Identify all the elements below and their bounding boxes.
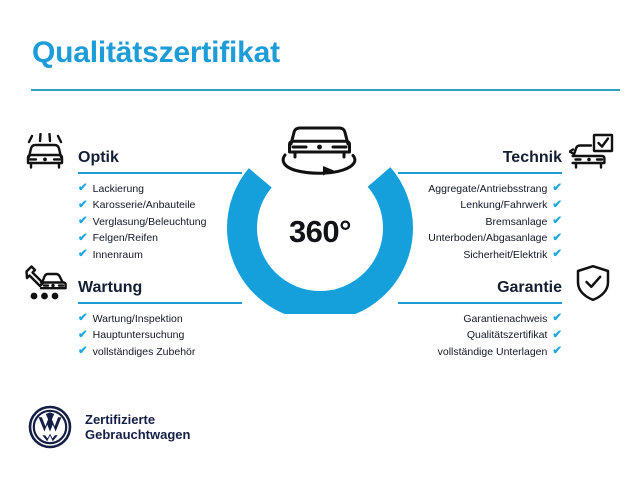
section-garantie: Garantie Garantienachweis✔ Qualitätszert…: [398, 270, 562, 360]
list-item: ✔Innenraum: [78, 247, 242, 263]
list-item-label: Verglasung/Beleuchtung: [93, 214, 207, 230]
list-item-label: Lackierung: [93, 181, 144, 197]
check-icon: ✔: [78, 216, 88, 228]
list-item-label: vollständige Unterlagen: [438, 344, 548, 360]
list-item-label: Felgen/Reifen: [93, 230, 158, 246]
shield-check-icon: [572, 263, 614, 308]
section-wartung: Wartung ✔Wartung/Inspektion ✔Hauptunters…: [78, 270, 242, 360]
section-divider: [78, 172, 242, 174]
check-icon: ✔: [78, 313, 88, 325]
check-icon: ✔: [552, 183, 562, 195]
badge-360-gebrauchtwagen-check: Gebrauchtwagen-Check 360°: [222, 118, 418, 314]
list-item-label: Innenraum: [93, 247, 143, 263]
check-icon: ✔: [552, 216, 562, 228]
car-checkbox-icon: [569, 133, 615, 178]
check-icon: ✔: [552, 233, 562, 245]
section-header-technik: Technik: [398, 140, 562, 174]
section-optik: Optik ✔Lackierung ✔Karosserie/Anbauteile…: [78, 140, 242, 263]
list-item: Lenkung/Fahrwerk✔: [398, 197, 562, 213]
list-item-label: Sicherheit/Elektrik: [463, 247, 547, 263]
list-item-label: Unterboden/Abgasanlage: [428, 230, 547, 246]
list-item-label: Wartung/Inspektion: [93, 311, 183, 327]
list-item: ✔Lackierung: [78, 181, 242, 197]
checklist-wartung: ✔Wartung/Inspektion ✔Hauptuntersuchung ✔…: [78, 311, 242, 360]
footer-line-1: Zertifizierte: [85, 412, 190, 428]
certificate-page: Qualitätszertifikat Optik: [0, 0, 640, 480]
list-item: ✔Felgen/Reifen: [78, 230, 242, 246]
list-item: ✔Hauptuntersuchung: [78, 327, 242, 343]
vw-logo-icon: [28, 405, 72, 449]
check-icon: ✔: [552, 313, 562, 325]
car-lift-wrench-icon: [22, 263, 68, 308]
check-icon: ✔: [78, 249, 88, 261]
section-technik: Technik Aggregate/Antriebsstrang✔ Lenkun…: [398, 140, 562, 263]
page-title: Qualitätszertifikat: [32, 36, 280, 70]
list-item: ✔Wartung/Inspektion: [78, 311, 242, 327]
section-divider: [398, 172, 562, 174]
list-item: Qualitätszertifikat✔: [398, 327, 562, 343]
list-item-label: Hauptuntersuchung: [93, 327, 185, 343]
list-item-label: Qualitätszertifikat: [467, 327, 548, 343]
list-item: vollständige Unterlagen✔: [398, 344, 562, 360]
checklist-garantie: Garantienachweis✔ Qualitätszertifikat✔ v…: [398, 311, 562, 360]
footer-brand-text: Zertifizierte Gebrauchtwagen: [85, 412, 190, 443]
footer-brand: Zertifizierte Gebrauchtwagen: [28, 405, 190, 449]
check-icon: ✔: [78, 330, 88, 342]
list-item-label: Garantienachweis: [463, 311, 547, 327]
section-title: Optik: [78, 149, 119, 167]
car-sparkle-icon: [22, 133, 68, 178]
list-item-label: Karosserie/Anbauteile: [93, 197, 196, 213]
list-item: ✔vollständiges Zubehör: [78, 344, 242, 360]
list-item: Unterboden/Abgasanlage✔: [398, 230, 562, 246]
section-header-optik: Optik: [78, 140, 242, 174]
section-title: Technik: [503, 149, 562, 167]
section-title: Garantie: [497, 279, 562, 297]
check-icon: ✔: [552, 249, 562, 261]
badge-degree-label: 360°: [222, 214, 418, 250]
section-divider: [78, 302, 242, 304]
check-icon: ✔: [78, 233, 88, 245]
check-icon: ✔: [552, 330, 562, 342]
list-item: Sicherheit/Elektrik✔: [398, 247, 562, 263]
list-item: Garantienachweis✔: [398, 311, 562, 327]
check-icon: ✔: [552, 346, 562, 358]
list-item-label: Bremsanlage: [485, 214, 547, 230]
list-item: Aggregate/Antriebsstrang✔: [398, 181, 562, 197]
list-item-label: vollständiges Zubehör: [93, 344, 196, 360]
check-icon: ✔: [78, 183, 88, 195]
list-item: Bremsanlage✔: [398, 214, 562, 230]
footer-line-2: Gebrauchtwagen: [85, 427, 190, 443]
section-divider: [398, 302, 562, 304]
section-header-garantie: Garantie: [398, 270, 562, 304]
check-icon: ✔: [552, 200, 562, 212]
section-header-wartung: Wartung: [78, 270, 242, 304]
list-item-label: Aggregate/Antriebsstrang: [428, 181, 547, 197]
checklist-optik: ✔Lackierung ✔Karosserie/Anbauteile ✔Verg…: [78, 181, 242, 263]
checklist-technik: Aggregate/Antriebsstrang✔ Lenkung/Fahrwe…: [398, 181, 562, 263]
list-item: ✔Karosserie/Anbauteile: [78, 197, 242, 213]
list-item: ✔Verglasung/Beleuchtung: [78, 214, 242, 230]
check-icon: ✔: [78, 346, 88, 358]
check-icon: ✔: [78, 200, 88, 212]
section-title: Wartung: [78, 279, 142, 297]
list-item-label: Lenkung/Fahrwerk: [460, 197, 547, 213]
title-divider: [31, 89, 620, 91]
